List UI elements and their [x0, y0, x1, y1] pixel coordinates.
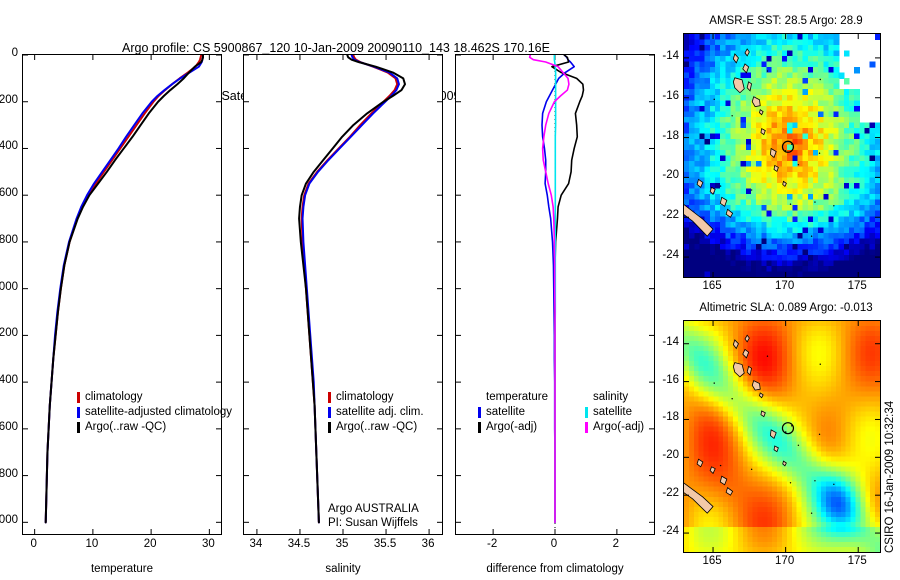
depth-tick-label: 1600	[0, 421, 18, 433]
longitude-tick-label: 165	[692, 555, 732, 567]
legend-entry: climatology	[77, 390, 232, 405]
legend-entry: Argo(..raw -QC)	[328, 420, 424, 435]
latitude-tick-label: -16	[647, 374, 679, 386]
legend-entry: Argo(-adj)	[478, 420, 548, 435]
depth-tick-label: 1800	[0, 468, 18, 480]
x-tick-label: 20	[125, 538, 175, 550]
legend-entry: Argo(-adj)	[585, 420, 644, 435]
legend-label: satellite-adjusted climatology	[85, 405, 232, 420]
depth-tick-label: 1200	[0, 327, 18, 339]
x-tick-label: 0	[529, 538, 579, 550]
latitude-tick-label: -24	[647, 525, 679, 537]
x-tick-label: -2	[467, 538, 517, 550]
depth-tick-label: 0	[0, 47, 18, 59]
legend-label: Argo(-adj)	[593, 420, 644, 435]
temperature-axis-label: temperature	[22, 563, 222, 575]
argo-pi: PI: Susan Wijffels	[328, 516, 419, 530]
temperature-legend: climatologysatellite-adjusted climatolog…	[77, 390, 232, 435]
legend-heading-spacer	[478, 392, 481, 403]
longitude-tick-label: 170	[765, 555, 805, 567]
legend-entry: satellite adj. clim.	[328, 405, 424, 420]
legend-color-swatch	[77, 407, 80, 418]
sla-map	[683, 320, 881, 553]
argo-profile-figure: Argo profile: CS 5900867_120 10-Jan-2009…	[0, 0, 900, 580]
salinity-axis-label: salinity	[243, 563, 443, 575]
difference-legend-salinity: salinitysatelliteArgo(-adj)	[585, 390, 644, 435]
legend-entry: salinity	[585, 390, 644, 405]
salinity-legend: climatologysatellite adj. clim.Argo(..ra…	[328, 390, 424, 435]
legend-label: salinity	[593, 390, 628, 405]
x-tick-label: 36	[403, 538, 453, 550]
latitude-tick-label: -20	[647, 449, 679, 461]
legend-color-swatch	[585, 422, 588, 433]
legend-label: climatology	[336, 390, 394, 405]
latitude-tick-label: -24	[647, 249, 679, 261]
legend-label: temperature	[486, 390, 548, 405]
depth-tick-label: 1400	[0, 374, 18, 386]
legend-color-swatch	[478, 407, 481, 418]
latitude-tick-label: -22	[647, 487, 679, 499]
sst-map-title: AMSR-E SST: 28.5 Argo: 28.9	[672, 15, 900, 27]
legend-label: satellite	[593, 405, 632, 420]
legend-color-swatch	[478, 422, 481, 433]
depth-tick-label: 1000	[0, 281, 18, 293]
legend-heading-spacer	[585, 392, 588, 403]
legend-color-swatch	[328, 422, 331, 433]
argo-credit: Argo AUSTRALIA PI: Susan Wijffels	[328, 502, 419, 530]
legend-entry: Argo(..raw -QC)	[77, 420, 232, 435]
latitude-tick-label: -18	[647, 411, 679, 423]
csiro-timestamp: CSIRO 16-Jan-2009 10:32:34	[884, 401, 896, 553]
difference-panel	[455, 54, 655, 535]
legend-entry: satellite-adjusted climatology	[77, 405, 232, 420]
depth-tick-label: 2000	[0, 514, 18, 526]
latitude-tick-label: -18	[647, 130, 679, 142]
argo-org: Argo AUSTRALIA	[328, 502, 419, 516]
legend-label: Argo(..raw -QC)	[85, 420, 166, 435]
longitude-tick-label: 175	[837, 555, 877, 567]
legend-label: climatology	[85, 390, 143, 405]
depth-tick-label: 200	[0, 94, 18, 106]
latitude-tick-label: -22	[647, 209, 679, 221]
latitude-tick-label: -14	[647, 50, 679, 62]
legend-entry: climatology	[328, 390, 424, 405]
x-tick-label: 10	[67, 538, 117, 550]
legend-color-swatch	[77, 392, 80, 403]
longitude-tick-label: 175	[837, 280, 877, 292]
longitude-tick-label: 170	[765, 280, 805, 292]
legend-color-swatch	[585, 407, 588, 418]
latitude-tick-label: -20	[647, 169, 679, 181]
x-tick-label: 2	[591, 538, 641, 550]
salinity-panel	[243, 54, 443, 535]
legend-color-swatch	[328, 407, 331, 418]
legend-label: Argo(..raw -QC)	[336, 420, 417, 435]
latitude-tick-label: -16	[647, 90, 679, 102]
difference-axis-label: difference from climatology	[442, 563, 668, 575]
legend-label: satellite	[486, 405, 525, 420]
longitude-tick-label: 165	[692, 280, 732, 292]
legend-color-swatch	[328, 392, 331, 403]
x-tick-label: 0	[9, 538, 59, 550]
latitude-tick-label: -14	[647, 336, 679, 348]
legend-entry: satellite	[478, 405, 548, 420]
depth-tick-label: 400	[0, 140, 18, 152]
temperature-panel	[22, 54, 222, 535]
legend-label: Argo(-adj)	[486, 420, 537, 435]
x-tick-label: 30	[183, 538, 233, 550]
legend-color-swatch	[77, 422, 80, 433]
legend-entry: temperature	[478, 390, 548, 405]
legend-entry: satellite	[585, 405, 644, 420]
sla-map-title: Altimetric SLA: 0.089 Argo: -0.013	[662, 302, 900, 314]
legend-label: satellite adj. clim.	[336, 405, 424, 420]
depth-tick-label: 800	[0, 234, 18, 246]
difference-legend-temperature: temperaturesatelliteArgo(-adj)	[478, 390, 548, 435]
sst-map	[683, 33, 881, 278]
depth-tick-label: 600	[0, 187, 18, 199]
